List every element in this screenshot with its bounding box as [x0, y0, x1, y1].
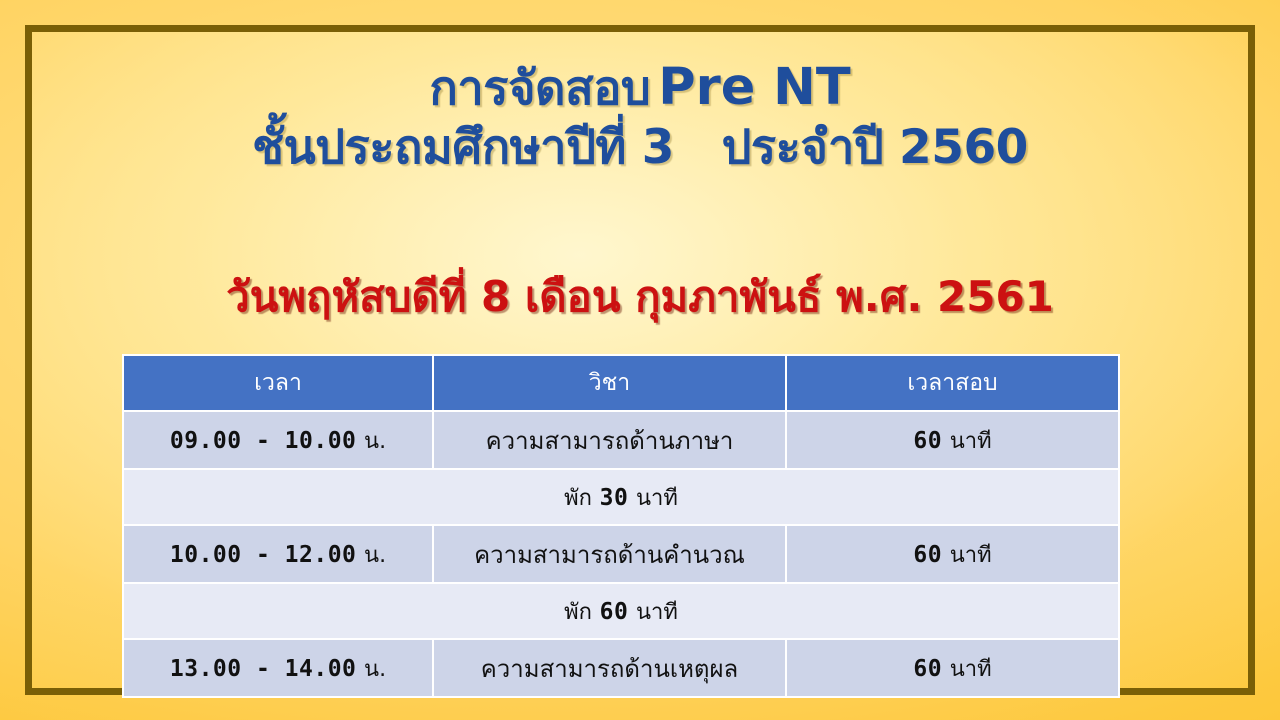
table-header-row: เวลา วิชา เวลาสอบ [123, 355, 1119, 411]
duration-value: 60 [913, 656, 942, 682]
break-value: 30 [600, 485, 629, 511]
table-header: เวลา วิชา เวลาสอบ [123, 355, 1119, 411]
slide-root: การจัดสอบPre NT ชั้นประถมศึกษาปีที่ 3 ปร… [0, 0, 1280, 720]
title-year-prefix: ประจำปี [722, 120, 884, 175]
title-latin-text: Pre NT [658, 58, 850, 117]
cell-duration: 60 นาที [786, 525, 1119, 583]
break-prefix-label: พัก [564, 486, 592, 511]
column-header-subject: วิชา [433, 355, 786, 411]
time-range-value: 10.00 - 12.00 [170, 542, 357, 568]
break-unit-label: นาที [636, 600, 678, 625]
title-grade-number: 3 [642, 120, 674, 175]
cell-duration: 60 นาที [786, 411, 1119, 469]
break-value: 60 [600, 599, 629, 625]
cell-duration: 60 นาที [786, 639, 1119, 697]
time-unit-label: น. [364, 429, 386, 454]
cell-time: 09.00 - 10.00 น. [123, 411, 433, 469]
title-year-number: 2560 [899, 120, 1028, 175]
duration-unit-label: นาที [950, 429, 992, 454]
cell-break: พัก 60 นาที [123, 583, 1119, 639]
cell-subject: ความสามารถด้านภาษา [433, 411, 786, 469]
exam-schedule-table: เวลา วิชา เวลาสอบ 09.00 - 10.00 น. ความส… [122, 354, 1120, 698]
table-row: 10.00 - 12.00 น. ความสามารถด้านคำนวณ 60 … [123, 525, 1119, 583]
time-range-value: 09.00 - 10.00 [170, 428, 357, 454]
time-unit-label: น. [364, 543, 386, 568]
table-row: 13.00 - 14.00 น. ความสามารถด้านเหตุผล 60… [123, 639, 1119, 697]
column-header-time: เวลา [123, 355, 433, 411]
title-thai-text: การจัดสอบ [429, 61, 650, 116]
slide-content: การจัดสอบPre NT ชั้นประถมศึกษาปีที่ 3 ปร… [0, 0, 1280, 720]
schedule-table-wrapper: เวลา วิชา เวลาสอบ 09.00 - 10.00 น. ความส… [122, 354, 1118, 698]
title-block: การจัดสอบPre NT ชั้นประถมศึกษาปีที่ 3 ปร… [0, 60, 1280, 174]
duration-unit-label: นาที [950, 657, 992, 682]
table-row: 09.00 - 10.00 น. ความสามารถด้านภาษา 60 น… [123, 411, 1119, 469]
time-range-value: 13.00 - 14.00 [170, 656, 357, 682]
cell-subject: ความสามารถด้านเหตุผล [433, 639, 786, 697]
table-row-break: พัก 60 นาที [123, 583, 1119, 639]
exam-date-subtitle: วันพฤหัสบดีที่ 8 เดือน กุมภาพันธ์ พ.ศ. 2… [0, 264, 1280, 330]
title-line-1: การจัดสอบPre NT [0, 60, 1280, 115]
cell-time: 10.00 - 12.00 น. [123, 525, 433, 583]
duration-unit-label: นาที [950, 543, 992, 568]
duration-value: 60 [913, 542, 942, 568]
cell-break: พัก 30 นาที [123, 469, 1119, 525]
cell-subject: ความสามารถด้านคำนวณ [433, 525, 786, 583]
table-body: 09.00 - 10.00 น. ความสามารถด้านภาษา 60 น… [123, 411, 1119, 697]
break-unit-label: นาที [636, 486, 678, 511]
break-prefix-label: พัก [564, 600, 592, 625]
title-line-2: ชั้นประถมศึกษาปีที่ 3 ประจำปี 2560 [0, 123, 1280, 174]
column-header-duration: เวลาสอบ [786, 355, 1119, 411]
table-row-break: พัก 30 นาที [123, 469, 1119, 525]
cell-time: 13.00 - 14.00 น. [123, 639, 433, 697]
duration-value: 60 [913, 428, 942, 454]
time-unit-label: น. [364, 657, 386, 682]
title-grade-prefix: ชั้นประถมศึกษาปีที่ [252, 120, 626, 175]
